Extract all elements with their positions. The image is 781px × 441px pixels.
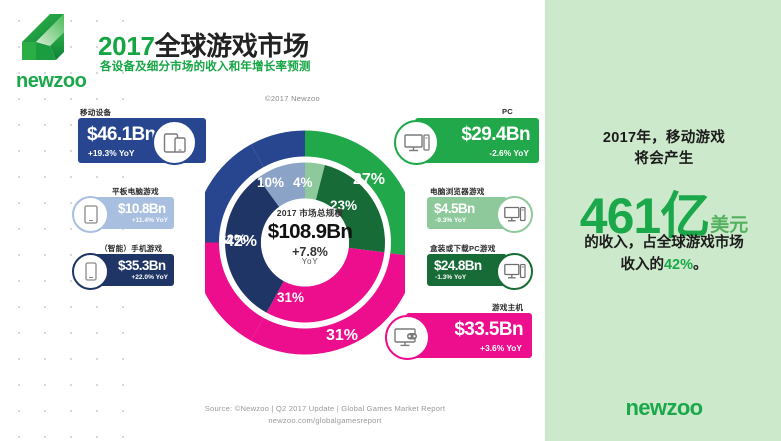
center-label: 2017 市场总规模 [254, 207, 366, 219]
caption-console: 游戏主机 [492, 302, 523, 313]
caption-mobile: 移动设备 [80, 107, 111, 118]
caption-boxed-pc: 盒装或下载PC游戏 [430, 243, 496, 254]
donut-center-text: 2017 市场总规模 $108.9Bn +7.8% YoY [254, 207, 366, 266]
caption-smartphone: （智能）手机游戏 [100, 243, 162, 254]
caption-pc: PC [502, 107, 513, 116]
tablet-icon [72, 196, 109, 233]
highlight-line1: 2017年，移动游戏 [557, 128, 771, 149]
smartphone-icon [72, 253, 109, 290]
footer-line2: newzoo.com/globalgamesreport [160, 415, 490, 427]
card-browser-games[interactable]: $4.5Bn -9.3% YoY [427, 197, 507, 229]
caption-tablet: 平板电脑游戏 [112, 186, 159, 197]
amount-browser: $4.5Bn [434, 201, 475, 216]
highlight-outro-text: 的收入，占全球游戏市场 收入的42%。 [552, 232, 776, 276]
highlight-line4-pre: 收入的 [620, 257, 664, 273]
yoy-boxed-pc: -1.3% YoY [435, 274, 466, 281]
amount-tablet: $10.8Bn [118, 201, 166, 216]
yoy-mobile: +19.3% YoY [88, 148, 134, 158]
tablet-and-phone-icon [152, 120, 197, 165]
highlight-line3: 的收入，占全球游戏市场 [552, 232, 776, 254]
yoy-smartphone: +22.0% YoY [131, 274, 168, 281]
desktop-pc-icon [394, 120, 439, 165]
desktop-pc-icon [496, 253, 533, 290]
footer-line1: Source: ©Newzoo | Q2 2017 Update | Globa… [160, 403, 490, 415]
title-year: 2017 [98, 31, 155, 61]
yoy-pc: -2.6% YoY [489, 148, 529, 158]
newzoo-logo-icon [18, 12, 82, 70]
tv-gamepad-icon [385, 315, 430, 360]
copyright-note: ©2017 Newzoo [265, 94, 320, 103]
footer-source: Source: ©Newzoo | Q2 2017 Update | Globa… [160, 403, 490, 427]
highlight-line2: 将会产生 [557, 149, 771, 170]
amount-pc: $29.4Bn [461, 124, 530, 146]
amount-mobile: $46.1Bn [87, 124, 156, 146]
highlight-line4-post: 。 [693, 257, 708, 273]
page-subtitle: 各设备及细分市场的收入和年增长率预测 [100, 58, 311, 74]
desktop-pc-icon [496, 196, 533, 233]
yoy-browser: -9.3% YoY [435, 217, 466, 224]
center-total: $108.9Bn [254, 220, 366, 244]
title-text: 全球游戏市场 [155, 31, 309, 61]
center-growth-unit: YoY [254, 257, 366, 266]
panel-newzoo-wordmark: newzoo [557, 395, 771, 421]
amount-boxed-pc: $24.8Bn [434, 258, 482, 273]
yoy-tablet: +11.4% YoY [132, 217, 168, 224]
amount-smartphone: $35.3Bn [118, 258, 166, 273]
yoy-console: +3.6% YoY [480, 343, 522, 353]
caption-browser: 电脑浏览器游戏 [430, 186, 485, 197]
card-boxed-pc-games[interactable]: $24.8Bn -1.3% YoY [427, 254, 507, 286]
infographic-root: 2017年，移动游戏 将会产生 461亿美元 的收入，占全球游戏市场 收入的42… [0, 0, 781, 441]
highlight-intro-text: 2017年，移动游戏 将会产生 [557, 128, 771, 170]
highlight-line4: 收入的42%。 [552, 254, 776, 276]
highlight-percent: 42% [664, 257, 693, 273]
amount-console: $33.5Bn [454, 319, 523, 341]
header-newzoo-wordmark: newzoo [16, 70, 86, 93]
